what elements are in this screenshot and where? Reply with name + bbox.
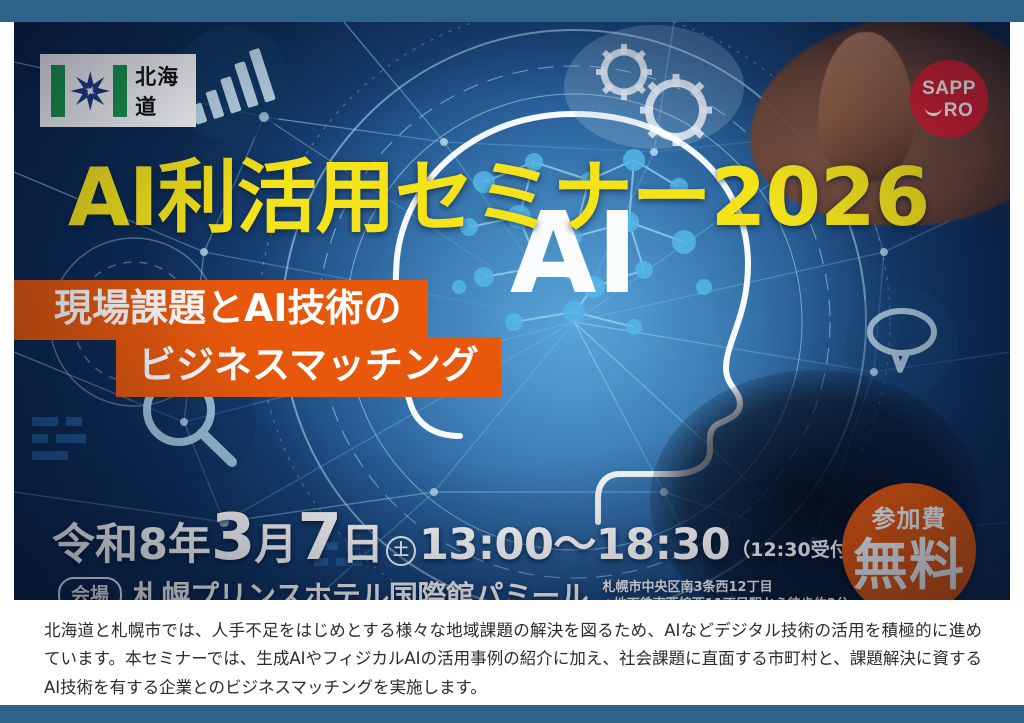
bottom-band <box>0 705 1024 723</box>
subtitle-line-2: ビジネスマッチング <box>116 337 501 397</box>
hokkaido-prefecture-logo: 北海道 <box>40 54 196 127</box>
venue-access: ●地下鉄東西線西11丁目駅から徒歩約3分 <box>602 596 848 600</box>
sapporo-logo-ro: RO <box>944 101 974 120</box>
subtitle-line-1: 現場課題とAI技術の <box>14 280 428 340</box>
event-time: 13:00〜18:30 <box>419 510 730 572</box>
fee-badge-value: 無料 <box>853 538 965 593</box>
venue-label-pill: 会場 <box>58 577 122 601</box>
event-datetime: 令和8年 3 月 7 日 土 13:00〜18:30 （12:30受付開始） <box>52 501 906 575</box>
smile-icon <box>925 104 942 116</box>
hokkaido-green-bar-right <box>113 65 127 117</box>
sapporo-city-logo: SAPP RO <box>910 60 988 138</box>
event-day-label: 日 <box>341 510 384 572</box>
gears-icon <box>564 25 744 149</box>
day-of-week-badge: 土 <box>386 536 416 566</box>
hokkaido-star-icon <box>69 65 111 117</box>
description-paragraph: 北海道と札幌市では、人手不足をはじめとする様々な地域課題の解決を図るため、AIな… <box>44 617 982 702</box>
event-month-label: 月 <box>254 510 297 572</box>
event-venue: 会場 札幌プリンスホテル国際館パミール 札幌市中央区南3条西12丁目 ●地下鉄東… <box>58 573 849 600</box>
sapporo-logo-line1: SAPP <box>922 79 976 98</box>
sapporo-logo-line2: RO <box>925 101 974 120</box>
top-band <box>0 0 1024 22</box>
venue-address-block: 札幌市中央区南3条西12丁目 ●地下鉄東西線西11丁目駅から徒歩約3分 <box>602 579 848 600</box>
page-title: AI利活用セミナー2026 <box>68 158 929 238</box>
fee-badge-label: 参加費 <box>872 507 947 531</box>
event-month-number: 3 <box>211 501 255 575</box>
seminar-poster: AI <box>0 0 1024 723</box>
venue-address: 札幌市中央区南3条西12丁目 <box>602 579 848 596</box>
hokkaido-logo-text: 北海道 <box>135 61 196 121</box>
era-year: 令和8年 <box>52 510 211 572</box>
event-day-number: 7 <box>297 501 341 575</box>
hero-banner: AI <box>14 22 1010 600</box>
hokkaido-green-bar-left <box>51 65 65 117</box>
venue-name: 札幌プリンスホテル国際館パミール <box>133 573 588 600</box>
